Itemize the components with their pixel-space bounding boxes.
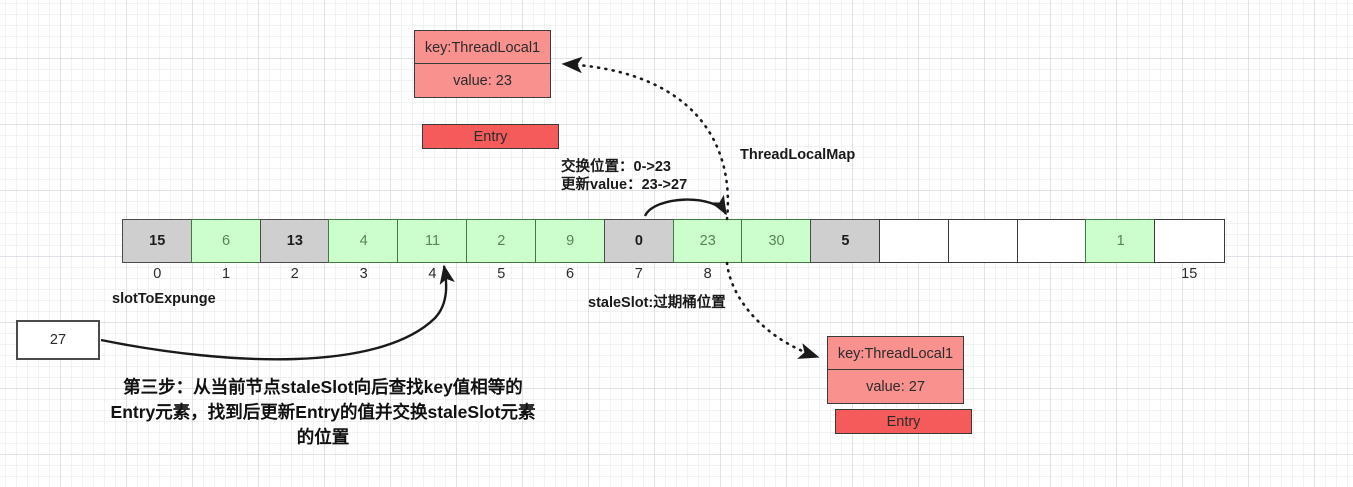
array-index-1: 1 (191, 266, 262, 282)
array-cell-0: 15 (122, 219, 193, 263)
threadlocalmap-array: 15613411290233051 (122, 219, 1225, 263)
array-index-5: 5 (466, 266, 537, 282)
entry-card-top: Entry key:ThreadLocal1 value: 23 (414, 30, 551, 98)
step-caption: 第三步：从当前节点staleSlot向后查找key值相等的Entry元素，找到后… (108, 375, 538, 450)
array-index-6: 6 (535, 266, 606, 282)
slot-to-expunge-label: slotToExpunge (112, 291, 216, 307)
array-index-3: 3 (328, 266, 399, 282)
swap-note-line-1: 交换位置：0->23 (561, 158, 716, 176)
array-cell-10: 5 (810, 219, 881, 263)
array-cell-13 (1017, 219, 1088, 263)
entry-bottom-value: value: 27 (827, 370, 964, 404)
threadlocalmap-title-label: ThreadLocalMap (740, 147, 855, 163)
stale-slot-label: staleSlot:过期桶位置 (588, 291, 726, 312)
new-value-box: 27 (16, 320, 100, 360)
array-cell-14: 1 (1085, 219, 1156, 263)
array-cell-15 (1154, 219, 1225, 263)
array-cell-12 (948, 219, 1019, 263)
array-index-8: 8 (672, 266, 743, 282)
array-index-15: 15 (1154, 266, 1225, 282)
array-cell-2: 13 (260, 219, 331, 263)
array-cell-6: 9 (535, 219, 606, 263)
array-cell-9: 30 (741, 219, 812, 263)
entry-bottom-key: key:ThreadLocal1 (827, 336, 964, 370)
array-cell-8: 23 (673, 219, 744, 263)
array-cell-4: 11 (397, 219, 468, 263)
entry-top-value: value: 23 (414, 64, 551, 98)
array-index-7: 7 (604, 266, 675, 282)
array-cell-3: 4 (328, 219, 399, 263)
swap-note: 交换位置：0->23 更新value：23->27 (561, 158, 716, 194)
entry-top-name: Entry (422, 124, 559, 149)
swap-note-line-2: 更新value：23->27 (561, 176, 716, 194)
array-cell-1: 6 (191, 219, 262, 263)
entry-card-bottom: Entry key:ThreadLocal1 value: 27 (827, 336, 964, 404)
array-cell-7: 0 (604, 219, 675, 263)
entry-bottom-name: Entry (835, 409, 972, 434)
array-index-2: 2 (260, 266, 331, 282)
array-cell-11 (879, 219, 950, 263)
entry-top-key: key:ThreadLocal1 (414, 30, 551, 64)
array-index-0: 0 (122, 266, 193, 282)
array-index-4: 4 (397, 266, 468, 282)
array-cell-5: 2 (466, 219, 537, 263)
